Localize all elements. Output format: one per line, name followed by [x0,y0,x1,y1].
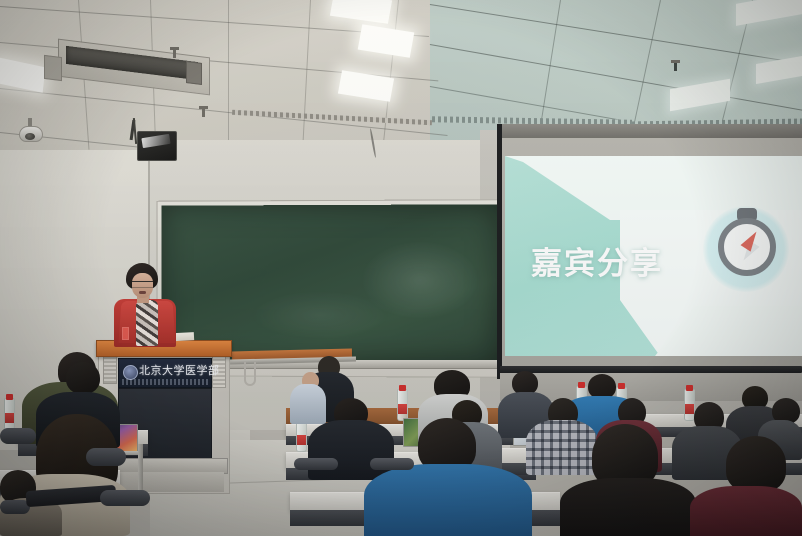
torso [560,478,696,536]
torso [690,486,802,536]
head [726,436,786,492]
water-bottle [397,389,408,421]
bottle-label [398,404,407,414]
podium-plaque-subtext [122,379,208,385]
blackboard-chalk-smudge [250,290,390,340]
speaker-badge [122,327,129,340]
ceiling-light [358,24,415,58]
sprinkler-icon [173,49,176,58]
air-conditioner-vent-side [44,55,62,81]
water-bottle [296,420,307,452]
chair-armrest [0,428,36,444]
camera-lens-icon [25,133,35,140]
speaker-scarf [136,300,158,346]
torso [364,464,532,536]
lecture-hall-photo: 嘉宾分享 北京大学医学部 [0,0,802,536]
ceiling-grid-line [228,0,229,158]
desk-leg [138,444,143,492]
sprinkler-icon [674,62,677,71]
torso [290,384,326,424]
chair-armrest [294,458,338,470]
water-bottle [4,398,15,430]
head [66,362,100,394]
projection-screen-edge [497,124,502,379]
air-conditioner-vent-side [186,61,202,85]
cable-hook-icon [244,362,256,386]
torso [526,420,598,475]
bottle-label [5,413,14,423]
speaker-lapel [156,301,176,343]
projected-slide: 嘉宾分享 [505,156,802,356]
ceiling-light [0,57,45,93]
torso [308,420,394,480]
ceiling-light [330,0,392,24]
projection-screen-weight-bar [500,366,802,373]
speaker-mouth [139,291,146,294]
bottle-label [685,404,694,414]
chair-armrest [370,458,414,470]
podium-plaque-text: 北京大学医学部 [139,363,209,379]
bottle-label [297,435,306,445]
university-seal-icon [123,365,138,380]
slide-title: 嘉宾分享 [531,244,711,284]
chair-armrest [100,490,150,506]
chair-armrest [86,448,126,466]
ceiling-grid-line [302,0,311,160]
glasses-icon [132,281,153,288]
sprinkler-icon [202,108,205,117]
